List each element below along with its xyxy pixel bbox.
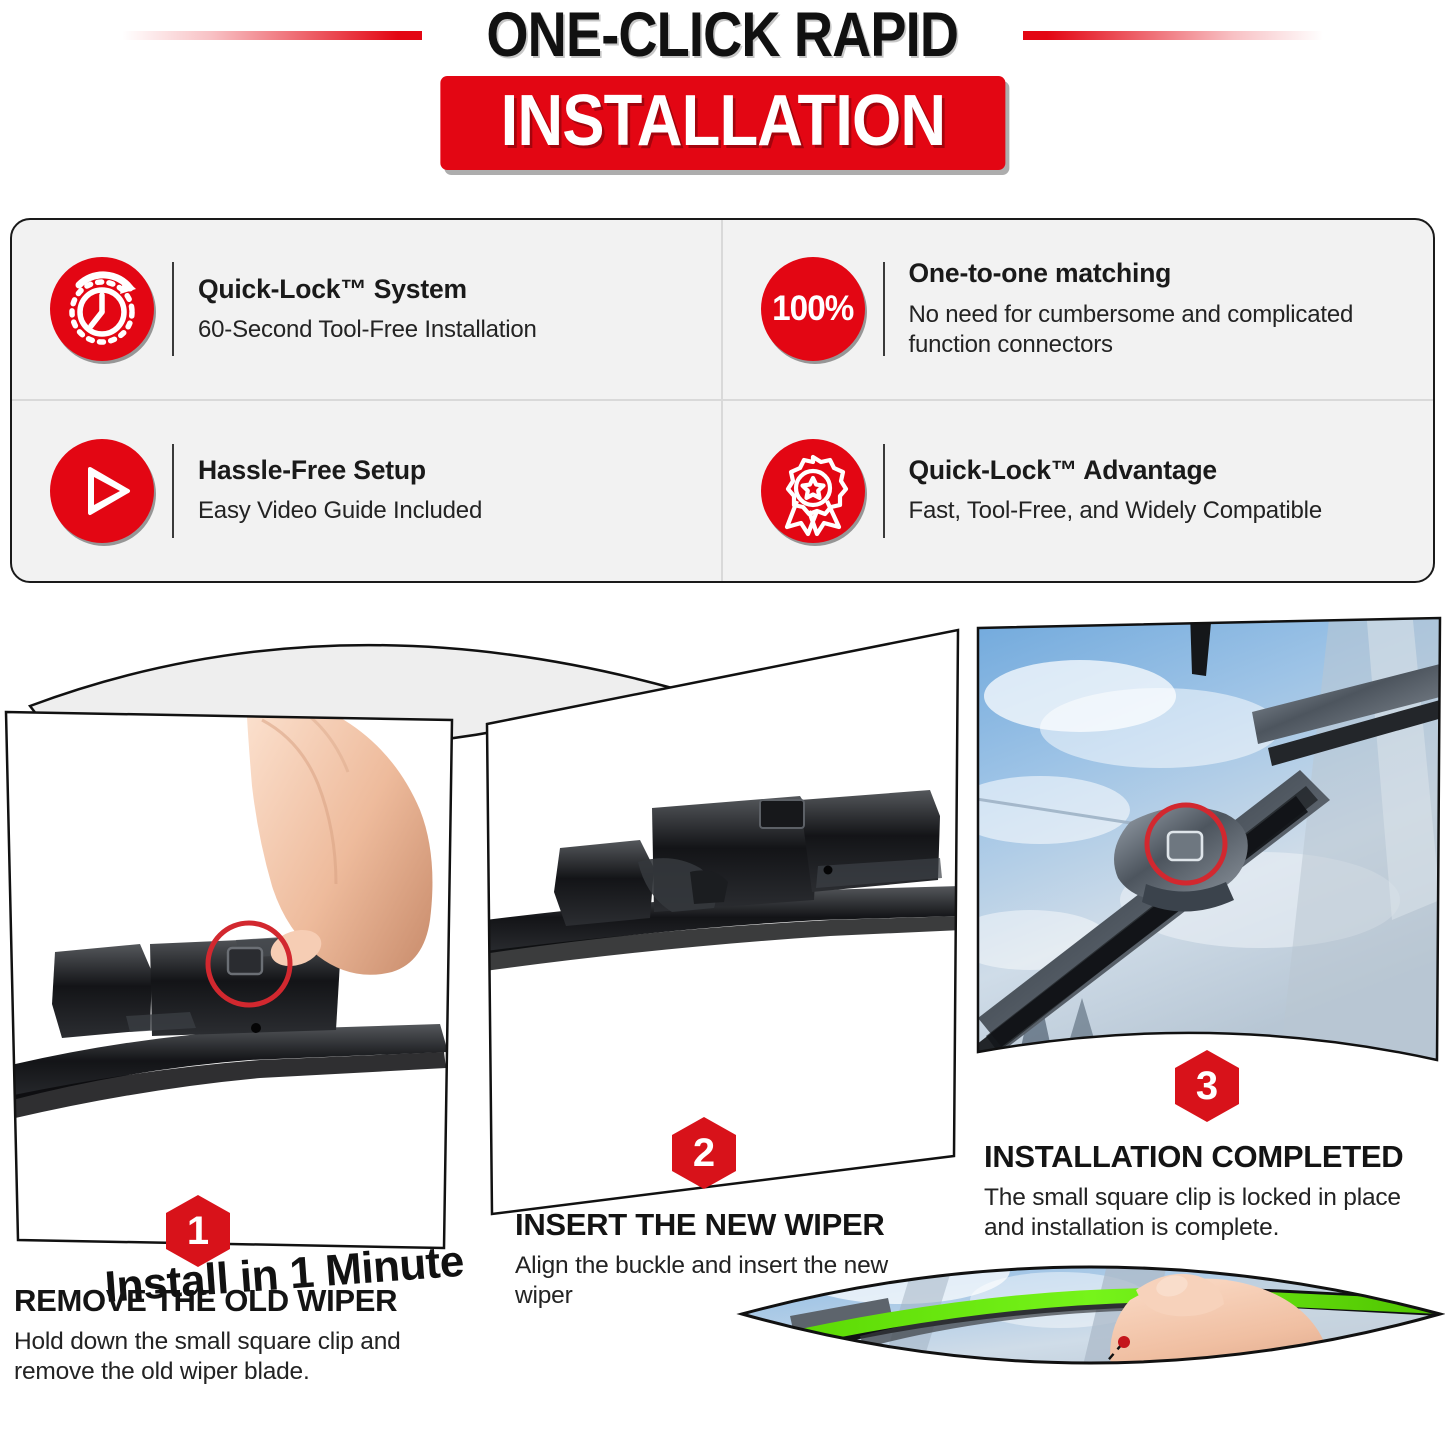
clock-icon [50,257,154,361]
step-badge-1: 1 [166,1195,230,1267]
header-rule-left [122,31,422,40]
feature-card-quick-lock-system: Quick-Lock™ System 60-Second Tool-Free I… [12,220,723,401]
step-body: Hold down the small square clip and remo… [14,1327,464,1387]
step-title: INSERT THE NEW WIPER [515,1208,945,1243]
header: ONE-CLICK RAPID INSTALLATION [0,0,1445,190]
step-number: 3 [1196,1066,1218,1106]
divider [883,262,885,356]
feature-title: Quick-Lock™ Advantage [909,454,1412,487]
divider [883,444,885,538]
divider [172,262,174,356]
step-caption-1: REMOVE THE OLD WIPER Hold down the small… [14,1284,464,1386]
page-title: ONE-CLICK RAPID [487,4,959,66]
header-rule-right [1023,31,1323,40]
play-icon [50,439,154,543]
feature-description: Easy Video Guide Included [198,496,699,527]
feature-grid: Quick-Lock™ System 60-Second Tool-Free I… [10,218,1435,583]
step-number: 2 [693,1133,715,1173]
step-number: 1 [187,1211,209,1251]
feature-description: 60-Second Tool-Free Installation [198,315,699,346]
feature-title: Quick-Lock™ System [198,273,699,306]
step-caption-3: INSTALLATION COMPLETED The small square … [984,1140,1445,1242]
feature-description: Fast, Tool-Free, and Widely Compatible [909,496,1412,527]
hundred-percent-icon: 100% [761,257,865,361]
step-title: INSTALLATION COMPLETED [984,1140,1445,1175]
award-ribbon-icon [761,439,865,543]
feature-card-hassle-free-setup: Hassle-Free Setup Easy Video Guide Inclu… [12,401,723,582]
header-highlight-text: INSTALLATION [500,84,945,158]
feature-title: One-to-one matching [909,257,1412,290]
feature-card-quick-lock-advantage: Quick-Lock™ Advantage Fast, Tool-Free, a… [723,401,1434,582]
step-body: The small square clip is locked in place… [984,1183,1445,1243]
feature-title: Hassle-Free Setup [198,454,699,487]
step-title: REMOVE THE OLD WIPER [14,1284,464,1319]
step-badge-2: 2 [672,1117,736,1189]
infographic-page: ONE-CLICK RAPID INSTALLATION [0,0,1445,1432]
step-caption-2: INSERT THE NEW WIPER Align the buckle an… [515,1208,945,1310]
header-title-row: ONE-CLICK RAPID [0,0,1445,70]
feature-description: No need for cumbersome and complicated f… [909,300,1412,361]
step-body: Align the buckle and insert the new wipe… [515,1251,945,1311]
header-highlight-box: INSTALLATION [440,76,1005,170]
feature-card-one-to-one-matching: 100% One-to-one matching No need for cum… [723,220,1434,401]
hundred-percent-label: 100% [772,289,853,329]
divider [172,444,174,538]
step-badge-3: 3 [1175,1050,1239,1122]
